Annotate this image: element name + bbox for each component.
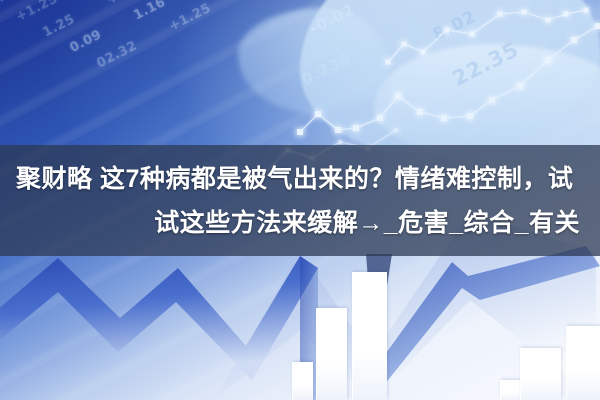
bar-column [292,362,313,400]
bar-column [520,348,561,400]
bar-column [566,326,600,400]
bar-column [316,308,347,400]
headline-line-2: 试这些方法来缓解→_危害_综合_有关 [154,201,586,245]
bar-column [352,272,387,400]
bar-chart-columns [0,270,600,400]
headline-band: 聚财略 这7种病都是被气出来的？情绪难控制，试 试这些方法来缓解→_危害_综合_… [0,145,600,256]
article-thumbnail-banner: +0.02-0.36-45.0221.06+0.09-11.25+5.0245.… [0,0,600,400]
headline-line-1: 聚财略 这7种病都是被气出来的？情绪难控制，试 [14,157,573,201]
